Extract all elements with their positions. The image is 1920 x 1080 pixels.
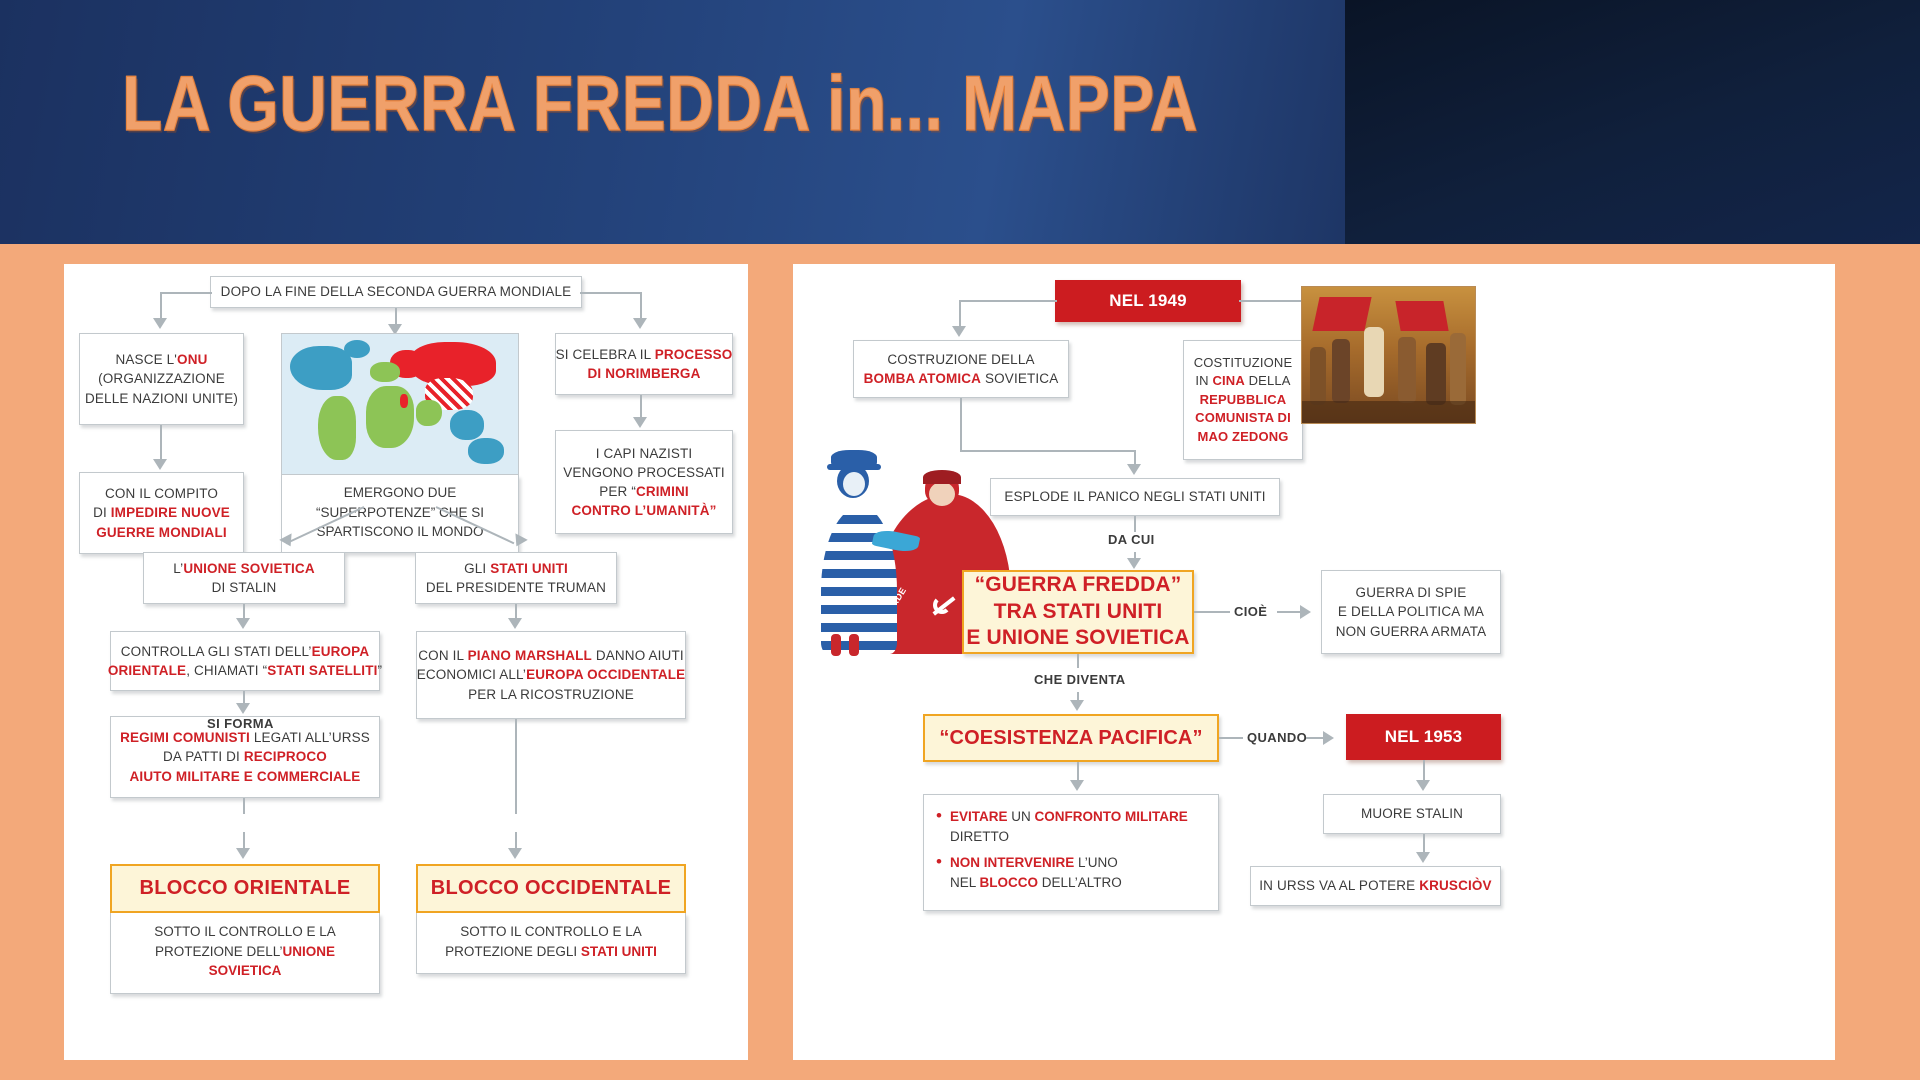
arrow-to-panico (1127, 464, 1141, 475)
slide-root: LA GUERRA FREDDA in... MAPPA DOPO LA FIN… (0, 0, 1920, 1080)
box-nel-1953: NEL 1953 (1346, 714, 1501, 760)
arrow-to-coesistenza (1070, 700, 1084, 711)
box-line-1: REGIMI COMUNISTI LEGATI ALL’URSS (120, 728, 370, 747)
connector-regimi-siforma (243, 798, 245, 814)
box-line-2: E DELLA POLITICA MA (1338, 602, 1484, 621)
box-con-il-compito: CON IL COMPITO DI IMPEDIRE NUOVE GUERRE … (79, 472, 244, 554)
connector-root-right-h (580, 292, 642, 294)
connector-marshall-siforma (515, 719, 517, 814)
header-dark-panel (1345, 0, 1920, 244)
box-line-5: MAO ZEDONG (1197, 428, 1288, 446)
box-bomba-atomica: COSTRUZIONE DELLA BOMBA ATOMICA SOVIETIC… (853, 340, 1069, 398)
box-coesistenza-bullets: EVITARE UN CONFRONTO MILITARE DIRETTO NO… (923, 794, 1219, 911)
arrow-to-compito (153, 459, 167, 470)
arrow-to-onu (153, 318, 167, 329)
blocco-orientale-title: BLOCCO ORIENTALE (110, 864, 380, 913)
box-line-1: CONTROLLA GLI STATI DELL’EUROPA (121, 642, 369, 661)
box-dopo-la-fine: DOPO LA FINE DELLA SECONDA GUERRA MONDIA… (210, 276, 582, 308)
box-guerra-fredda: “GUERRA FREDDA” TRA STATI UNITI E UNIONE… (962, 570, 1194, 654)
connector-root-right-v (640, 292, 642, 320)
left-diagram-panel: DOPO LA FINE DELLA SECONDA GUERRA MONDIA… (64, 264, 748, 1060)
box-line-3: GUERRE MONDIALI (96, 523, 227, 542)
bullet-item-1-sub: DIRETTO (950, 827, 1204, 847)
box-line-2: ORIENTALE, CHIAMATI “STATI SATELLITI” (108, 661, 382, 680)
world-map-caption: EMERGONO DUE “SUPERPOTENZE” CHE SI SPART… (281, 475, 519, 553)
box-guerra-di-spie: GUERRA DI SPIE E DELLA POLITICA MA NON G… (1321, 570, 1501, 654)
box-nasce-onu: NASCE L'ONU (ORGANIZZAZIONE DELLE NAZION… (79, 333, 244, 425)
box-text: NEL 1949 (1109, 289, 1186, 313)
arrow-to-regimi (236, 703, 250, 714)
map-region-arabia-marker (400, 394, 408, 408)
connector-norimberga-nazisti (640, 395, 642, 419)
blocco-occidentale-title: BLOCCO OCCIDENTALE (416, 864, 686, 913)
box-line-1: I CAPI NAZISTI (596, 444, 693, 463)
connector-quando-left (1219, 737, 1243, 739)
box-line-1: COSTITUZIONE (1194, 354, 1293, 372)
box-line-1: L’UNIONE SOVIETICA (173, 559, 314, 578)
world-map-image (281, 333, 519, 475)
arrow-to-marshall (508, 618, 522, 629)
box-text: “COESISTENZA PACIFICA” (939, 724, 1202, 752)
box-text: NEL 1953 (1385, 725, 1462, 749)
blocco-orientale-body: SOTTO IL CONTROLLO E LA PROTEZIONE DELL’… (110, 913, 380, 994)
box-line-2: (ORGANIZZAZIONE (98, 369, 225, 388)
box-line-1: GUERRA DI SPIE (1356, 583, 1467, 602)
bullet-item-2: NON INTERVENIRE L’UNO NEL BLOCCO DELL’AL… (934, 853, 1204, 894)
box-text: ESPLODE IL PANICO NEGLI STATI UNITI (1004, 487, 1265, 506)
box-line-1: COSTRUZIONE DELLA (887, 350, 1034, 369)
box-line-2: DI STALIN (212, 578, 277, 597)
page-title: LA GUERRA FREDDA in... MAPPA (122, 58, 1198, 148)
caption-line-1: EMERGONO DUE “SUPERPOTENZE” (316, 485, 456, 520)
box-line-2: DA PATTI DI RECIPROCO (163, 747, 327, 766)
label-che-diventa: CHE DIVENTA (1034, 672, 1126, 687)
box-line-3: DELLE NAZIONI UNITE) (85, 389, 238, 408)
map-region-australia (468, 438, 504, 464)
box-line-1: NASCE L'ONU (115, 350, 207, 369)
label-si-forma-left: SI FORMA (207, 716, 274, 731)
box-line-3: REPUBBLICA (1200, 391, 1287, 409)
box-line-1: CON IL PIANO MARSHALL DANNO AIUTI (418, 646, 683, 665)
arrow-to-bullets (1070, 780, 1084, 791)
arrow-to-blocco-orientale (236, 848, 250, 859)
box-coesistenza-pacifica: “COESISTENZA PACIFICA” (923, 714, 1219, 762)
box-line-2: DEL PRESIDENTE TRUMAN (426, 578, 606, 597)
box-line-3: PER “CRIMINI (599, 482, 689, 501)
connector-panico-dacui (1134, 516, 1136, 532)
box-line-2: ECONOMICI ALL’EUROPA OCCIDENTALE (417, 665, 686, 684)
box-stati-uniti: GLI STATI UNITI DEL PRESIDENTE TRUMAN (415, 552, 617, 604)
connector-muore-krusciov (1423, 834, 1425, 854)
connector-onu-compito (160, 425, 162, 461)
box-nel-1949: NEL 1949 (1055, 280, 1241, 322)
label-cioe: CIOÈ (1234, 604, 1267, 619)
box-line-2: DI NORIMBERGA (588, 364, 701, 383)
body-line-2: DEGLI STATI UNITI (537, 944, 657, 959)
map-region-south-america (318, 396, 356, 460)
bullet-item-2-sub: NEL BLOCCO DELL’ALTRO (950, 873, 1204, 893)
box-krusciov: IN URSS VA AL POTERE KRUSCIÒV (1250, 866, 1501, 906)
box-esplode-panico: ESPLODE IL PANICO NEGLI STATI UNITI (990, 478, 1280, 516)
connector-1949-left-h (959, 300, 1057, 302)
connector-cioe-right (1277, 611, 1301, 613)
box-unione-sovietica: L’UNIONE SOVIETICA DI STALIN (143, 552, 345, 604)
connector-root-left-v (160, 292, 162, 320)
box-line-2: IN CINA DELLA (1195, 372, 1290, 390)
box-piano-marshall: CON IL PIANO MARSHALL DANNO AIUTI ECONOM… (416, 631, 686, 719)
block-blocco-occidentale: BLOCCO OCCIDENTALE SOTTO IL CONTROLLO E … (416, 864, 686, 974)
box-line-1: CON IL COMPITO (105, 484, 218, 503)
bullet-item-1: EVITARE UN CONFRONTO MILITARE DIRETTO (934, 807, 1204, 848)
box-capi-nazisti: I CAPI NAZISTI VENGONO PROCESSATI PER “C… (555, 430, 733, 534)
box-controlla-europa-orientale: CONTROLLA GLI STATI DELL’EUROPA ORIENTAL… (110, 631, 380, 691)
right-diagram-panel: NEL 1949 COSTRUZIONE DELLA BOMBA ATOMICA… (793, 264, 1835, 1060)
arrow-to-spie (1300, 605, 1311, 619)
arrow-to-bomba (952, 326, 966, 337)
label-da-cui: DA CUI (1108, 532, 1155, 547)
box-line-1: “GUERRA FREDDA” (975, 572, 1182, 599)
connector-cioe-left (1194, 611, 1230, 613)
slide-header: LA GUERRA FREDDA in... MAPPA (0, 0, 1920, 244)
box-muore-stalin: MUORE STALIN (1323, 794, 1501, 834)
connector-quando-right (1306, 737, 1324, 739)
arrow-to-blocco-occidentale (508, 848, 522, 859)
box-line-3: E UNIONE SOVIETICA (966, 625, 1189, 652)
map-region-europe (370, 362, 400, 382)
box-line-4: CONTRO L’UMANITÀ” (571, 501, 716, 520)
label-quando: QUANDO (1247, 730, 1307, 745)
box-line-4: COMUNISTA DI (1195, 409, 1291, 427)
box-text: IN URSS VA AL POTERE KRUSCIÒV (1259, 876, 1491, 895)
box-line-1: SI CELEBRA IL PROCESSO (556, 345, 733, 364)
connector-root-left-h (160, 292, 212, 294)
box-line-3: PER LA RICOSTRUZIONE (468, 685, 634, 704)
box-text: DOPO LA FINE DELLA SECONDA GUERRA MONDIA… (221, 282, 572, 301)
block-blocco-orientale: BLOCCO ORIENTALE SOTTO IL CONTROLLO E LA… (110, 864, 380, 994)
map-region-greenland (344, 340, 370, 358)
box-line-2: VENGONO PROCESSATI (563, 463, 724, 482)
arrow-to-krusciov (1416, 852, 1430, 863)
box-line-1: GLI STATI UNITI (464, 559, 568, 578)
arrow-to-nel-1953 (1323, 731, 1334, 745)
box-line-2: TRA STATI UNITI (994, 599, 1163, 626)
connector-1949-left-v (959, 300, 961, 328)
box-line-2: BOMBA ATOMICA SOVIETICA (864, 369, 1059, 388)
arrow-to-norimberga (633, 318, 647, 329)
arrow-to-controlla (236, 618, 250, 629)
map-region-india (416, 400, 442, 426)
box-line-2: DI IMPEDIRE NUOVE (93, 503, 230, 522)
blocco-occidentale-body: SOTTO IL CONTROLLO E LA PROTEZIONE DEGLI… (416, 913, 686, 974)
arrow-to-muore-stalin (1416, 780, 1430, 791)
mao-zedong-painting (1301, 286, 1476, 424)
box-line-3: AIUTO MILITARE E COMMERCIALE (130, 767, 361, 786)
connector-gf-chediventa (1077, 654, 1079, 668)
box-text: MUORE STALIN (1361, 804, 1463, 823)
connector-coesistenza-bullets (1077, 762, 1079, 782)
box-repubblica-cina: COSTITUZIONE IN CINA DELLA REPUBBLICA CO… (1183, 340, 1303, 460)
world-map-block: EMERGONO DUE “SUPERPOTENZE” CHE SI SPART… (281, 333, 519, 553)
map-region-southeast-asia (450, 410, 484, 440)
map-region-north-america (290, 346, 352, 390)
box-processo-norimberga: SI CELEBRA IL PROCESSO DI NORIMBERGA (555, 333, 733, 395)
arrow-to-guerra-fredda (1127, 558, 1141, 569)
arrow-to-nazisti (633, 417, 647, 428)
connector-1953-muore (1423, 760, 1425, 782)
box-line-3: NON GUERRA ARMATA (1336, 622, 1487, 641)
